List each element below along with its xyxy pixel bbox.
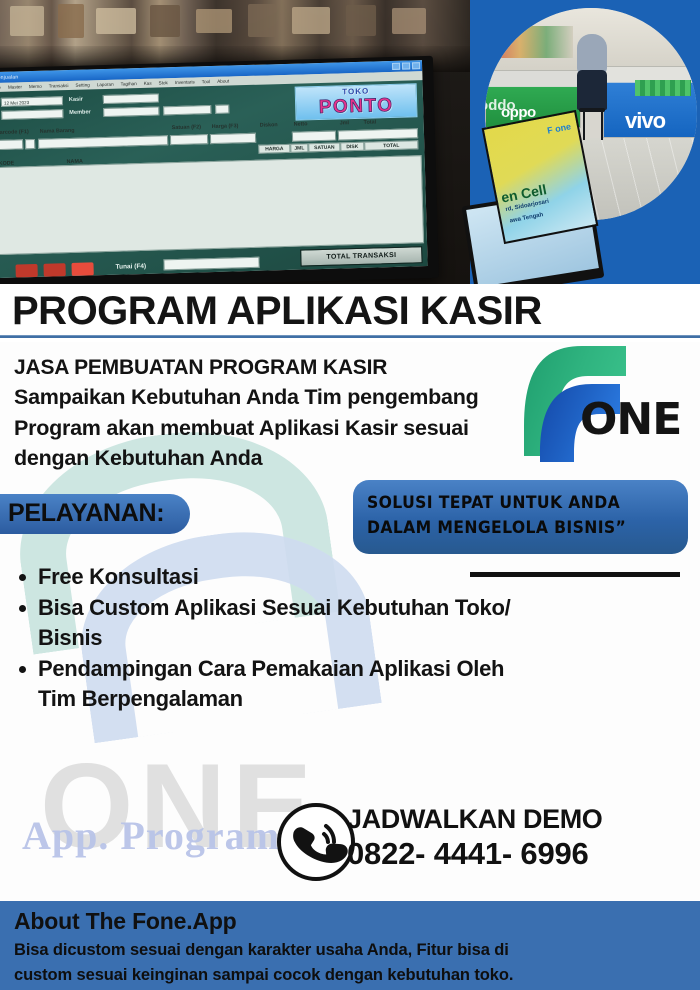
- inset-display-goods: [635, 80, 691, 96]
- footer-description: Bisa dicustom sesuai dengan karakter usa…: [14, 938, 692, 988]
- member-name-field[interactable]: [163, 105, 211, 115]
- services-list: Free Konsultasi Bisa Custom Aplikasi Ses…: [0, 562, 700, 713]
- store-logo-ponto: TOKO PONTO: [295, 83, 418, 120]
- pos-menu-item[interactable]: Memo: [29, 84, 42, 89]
- netto-input[interactable]: [292, 131, 336, 142]
- footer-title: About The Fone.App: [14, 907, 692, 937]
- barcode-input[interactable]: [0, 139, 23, 150]
- pos-menu-item[interactable]: Tagihan: [121, 81, 137, 86]
- total-transaksi-button[interactable]: TOTAL TRANSAKSI: [300, 246, 422, 266]
- pos-menu-item[interactable]: Stok: [159, 80, 168, 85]
- pos-menu-item[interactable]: Setting: [75, 82, 89, 87]
- banner-fone-logo: F one: [546, 121, 571, 135]
- pos-window-title: Penjualan: [0, 74, 18, 81]
- pos-form-area: TOKO PONTO 12 Mei 2023 Kasir Member: [0, 80, 428, 278]
- col-diskon-label: Diskon: [260, 122, 278, 128]
- pos-menu-item[interactable]: Inventaris: [175, 79, 195, 85]
- tagline-badge: SOLUSI TEPAT UNTUK ANDA DALAM MENGELOLA …: [353, 480, 688, 554]
- pos-menu-item[interactable]: Laporan: [97, 82, 114, 87]
- list-item: Free Konsultasi: [14, 562, 524, 591]
- contact-section: JADWALKAN DEMO 0822- 4441- 6996: [0, 800, 700, 892]
- grid-header-disk: DISK: [340, 142, 364, 152]
- inset-stool-leg: [601, 112, 603, 140]
- grid-header-jml: JML: [290, 143, 308, 152]
- phone-number[interactable]: 0822- 4441- 6996: [347, 836, 602, 873]
- harga-input[interactable]: [210, 133, 256, 144]
- pelayanan-pill: PELAYANAN:: [0, 494, 190, 534]
- monitor-bezel: Penjualan File Master Memo Transaksi Set…: [0, 56, 439, 284]
- list-header-nama: NAMA: [67, 159, 83, 165]
- col-total-label: Total: [364, 119, 377, 125]
- transaction-list-area[interactable]: [0, 155, 424, 255]
- col-jml-label: Jml: [340, 120, 349, 126]
- window-controls[interactable]: [392, 62, 420, 70]
- cash-input[interactable]: [163, 257, 259, 271]
- kasir-label: Kasir: [69, 97, 83, 103]
- barcode-x-button[interactable]: [25, 139, 35, 149]
- grid-header-total: TOTAL: [364, 140, 418, 151]
- pos-workstation-photo: Penjualan File Master Memo Transaksi Set…: [0, 0, 470, 284]
- phone-ringing-icon: [276, 802, 356, 882]
- inset-stool-leg: [583, 112, 585, 140]
- grid-header-harga: HARGA: [258, 144, 290, 154]
- footer-description-line-1: Bisa dicustom sesuai dengan karakter usa…: [14, 938, 692, 963]
- date-field-value: 12 Mei 2023: [4, 100, 29, 106]
- services-header-row: PELAYANAN: SOLUSI TEPAT UNTUK ANDA DALAM…: [0, 486, 700, 558]
- tagline-line-2: DALAM MENGELOLA BISNIS”: [367, 516, 653, 542]
- nama-barang-input[interactable]: [38, 135, 168, 149]
- col-satuan-label: Satuan (F2): [172, 124, 202, 131]
- store-logo-name: PONTO: [319, 96, 394, 117]
- pos-application-screen: Penjualan File Master Memo Transaksi Set…: [0, 60, 428, 278]
- date-field[interactable]: 12 Mei 2023: [1, 96, 63, 107]
- member-code-field[interactable]: [1, 109, 63, 120]
- pos-menu-item[interactable]: Master: [8, 84, 22, 89]
- grid-header-satuan: SATUAN: [308, 142, 340, 152]
- footer-description-line-2: custom sesuai keinginan sampai cocok den…: [14, 963, 692, 988]
- pos-menu-item[interactable]: Tool: [202, 79, 211, 84]
- contact-text-block: JADWALKAN DEMO 0822- 4441- 6996: [347, 804, 602, 872]
- tagline-line-1: SOLUSI TEPAT UNTUK ANDA: [367, 491, 653, 517]
- pelayanan-label: PELAYANAN:: [8, 499, 164, 527]
- cash-label: Tunai (F4): [115, 263, 146, 271]
- inset-customer-head: [577, 34, 607, 74]
- inset-vivo-brand: vivo: [625, 108, 665, 134]
- kasir-field[interactable]: [103, 93, 159, 104]
- fone-logo-wordmark: ONE: [580, 394, 681, 445]
- inset-customer-body: [577, 70, 607, 110]
- list-header-kode: KODE: [0, 161, 14, 167]
- footer-about-section: About The Fone.App Bisa dicustom sesuai …: [0, 901, 700, 990]
- flyer-poster: Penjualan File Master Memo Transaksi Set…: [0, 0, 700, 990]
- pos-menu-item[interactable]: Kas: [144, 81, 152, 86]
- col-netto-label: Netto: [294, 121, 308, 127]
- pos-action-icons[interactable]: [15, 262, 93, 277]
- pos-menu-item[interactable]: Transaksi: [49, 83, 69, 89]
- page-title: PROGRAM APLIKASI KASIR: [0, 290, 700, 332]
- member-field[interactable]: [103, 106, 159, 117]
- fone-brand-logo: ONE: [508, 334, 686, 462]
- banner-region-line: awa Tengah: [509, 212, 543, 224]
- col-nama-barang-label: Nama Barang: [40, 128, 75, 135]
- list-item: Pendampingan Cara Pemakaian Aplikasi Ole…: [14, 654, 524, 713]
- member-label: Member: [69, 109, 91, 116]
- pos-menu-item[interactable]: About: [217, 79, 229, 84]
- satuan-input[interactable]: [170, 134, 208, 145]
- hero-photo-band: Penjualan File Master Memo Transaksi Set…: [0, 0, 700, 284]
- demo-cta-label: JADWALKAN DEMO: [347, 804, 602, 836]
- list-item: Bisa Custom Aplikasi Sesuai Kebutuhan To…: [14, 593, 524, 652]
- pos-menu-item[interactable]: File: [0, 85, 1, 90]
- inset-top-shelf: [493, 26, 573, 58]
- col-barcode-label: Barcode (F1): [0, 129, 29, 136]
- member-extra-field[interactable]: [215, 105, 229, 114]
- col-harga-label: Harga (F3): [212, 123, 239, 130]
- total-input[interactable]: [338, 128, 418, 140]
